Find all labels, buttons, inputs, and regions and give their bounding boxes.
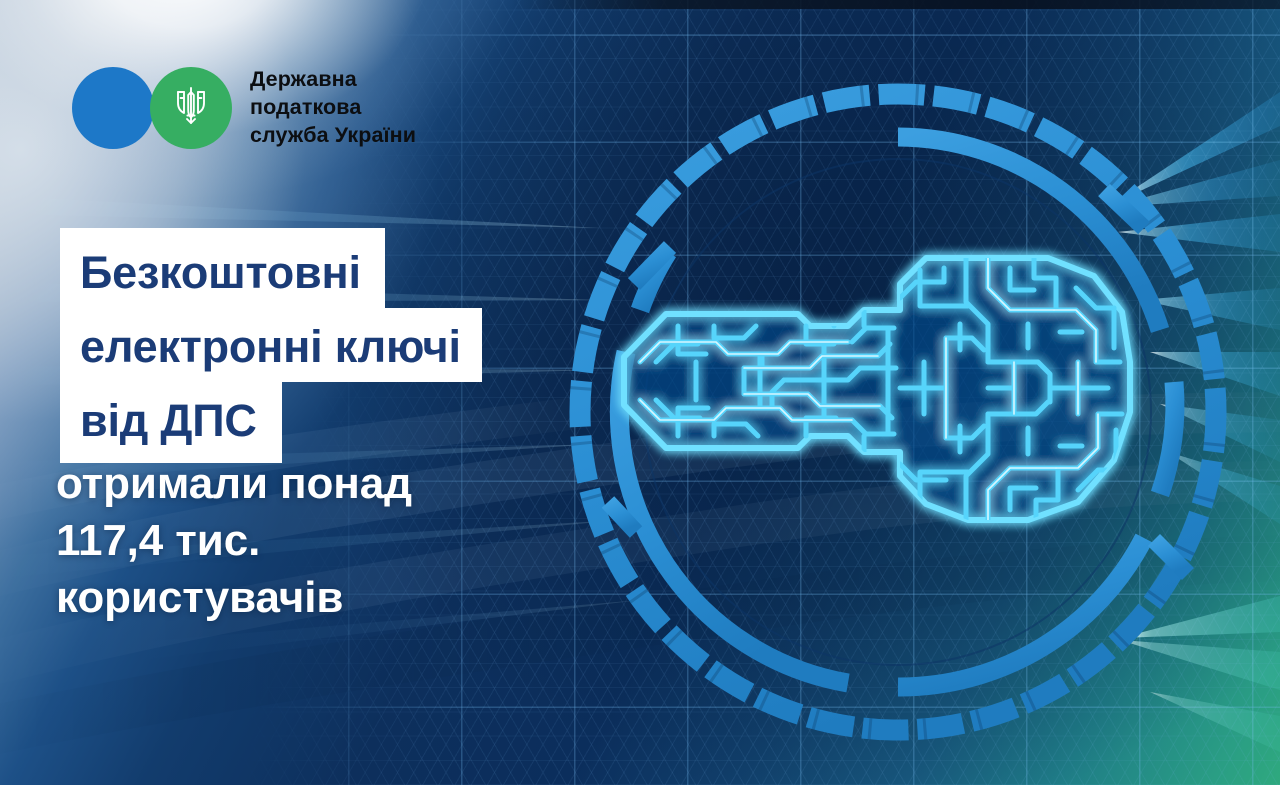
subtext-line-2: 117,4 тис. xyxy=(56,512,412,569)
ukraine-trident-icon xyxy=(174,84,208,131)
poster-canvas: Державна податкова служба України Безкош… xyxy=(0,0,1280,785)
logo-line-1: Державна xyxy=(250,66,416,94)
headline-line-1: Безкоштовні xyxy=(60,228,385,308)
subtext-line-3: користувачів xyxy=(56,569,412,626)
logo-blue-circle xyxy=(72,67,154,149)
logo-line-2: податкова xyxy=(250,94,416,122)
circuit-key-emblem xyxy=(548,62,1248,762)
dps-logo: Державна податкова служба України xyxy=(72,66,416,150)
logo-line-3: служба України xyxy=(250,122,416,150)
subtext-line-1: отримали понад xyxy=(56,455,412,512)
headline-line-2: електронні ключі xyxy=(60,308,482,382)
headline-block: Безкоштовні електронні ключі від ДПС xyxy=(60,228,482,463)
subtext-block: отримали понад 117,4 тис. користувачів xyxy=(56,455,412,627)
logo-green-circle xyxy=(150,67,232,149)
headline-line-3: від ДПС xyxy=(60,382,282,463)
logo-wordmark: Державна податкова служба України xyxy=(250,66,416,150)
top-edge-bar xyxy=(0,0,1280,9)
